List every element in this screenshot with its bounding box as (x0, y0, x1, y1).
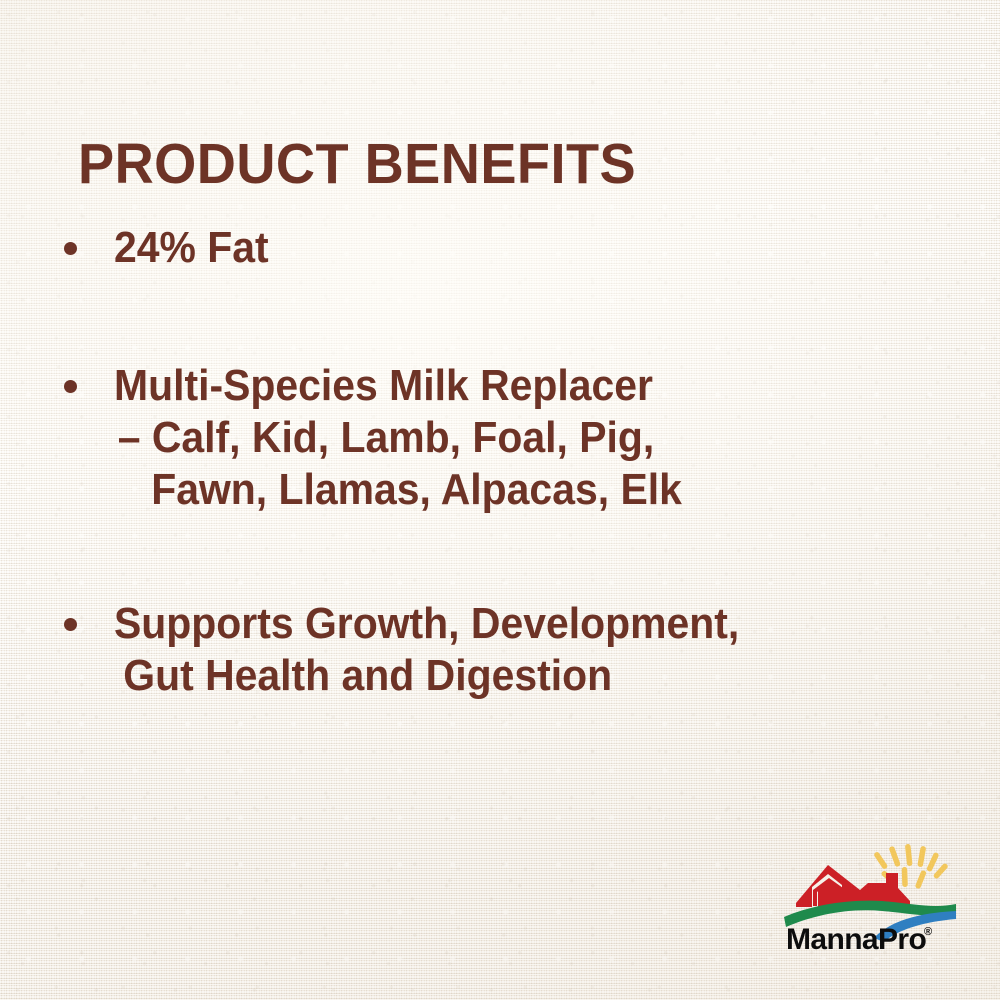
product-benefits-card: PRODUCT BENEFITS 24% Fat Multi-Species M… (0, 0, 1000, 1000)
benefit-line: Fawn, Llamas, Alpacas, Elk (114, 464, 682, 516)
logo-trademark-icon: ® (924, 926, 932, 938)
page-title: PRODUCT BENEFITS (78, 135, 636, 194)
mannapro-logo: MannaPro ® (782, 843, 958, 955)
benefit-item: Supports Growth, Development, Gut Health… (64, 598, 786, 702)
benefit-item: Multi-Species Milk Replacer – Calf, Kid,… (64, 360, 725, 516)
bullet-dot-icon (64, 242, 77, 255)
logo-wordmark: MannaPro (786, 923, 926, 955)
sun-rays-icon (873, 844, 949, 890)
benefit-text: 24% Fat (114, 222, 280, 274)
benefit-line: Supports Growth, Development, (114, 598, 739, 650)
benefit-item: 24% Fat (64, 222, 280, 274)
benefit-text: Multi-Species Milk Replacer – Calf, Kid,… (114, 360, 725, 516)
bullet-dot-icon (64, 380, 77, 393)
benefit-line: Gut Health and Digestion (114, 650, 739, 702)
benefit-text: Supports Growth, Development, Gut Health… (114, 598, 786, 702)
benefit-line: – Calf, Kid, Lamb, Foal, Pig, (114, 412, 682, 464)
benefit-line: Multi-Species Milk Replacer (114, 360, 682, 412)
benefit-line: 24% Fat (114, 222, 269, 274)
bullet-dot-icon (64, 618, 77, 631)
barn-icon (796, 865, 910, 907)
card-content: PRODUCT BENEFITS 24% Fat Multi-Species M… (0, 0, 1000, 1000)
